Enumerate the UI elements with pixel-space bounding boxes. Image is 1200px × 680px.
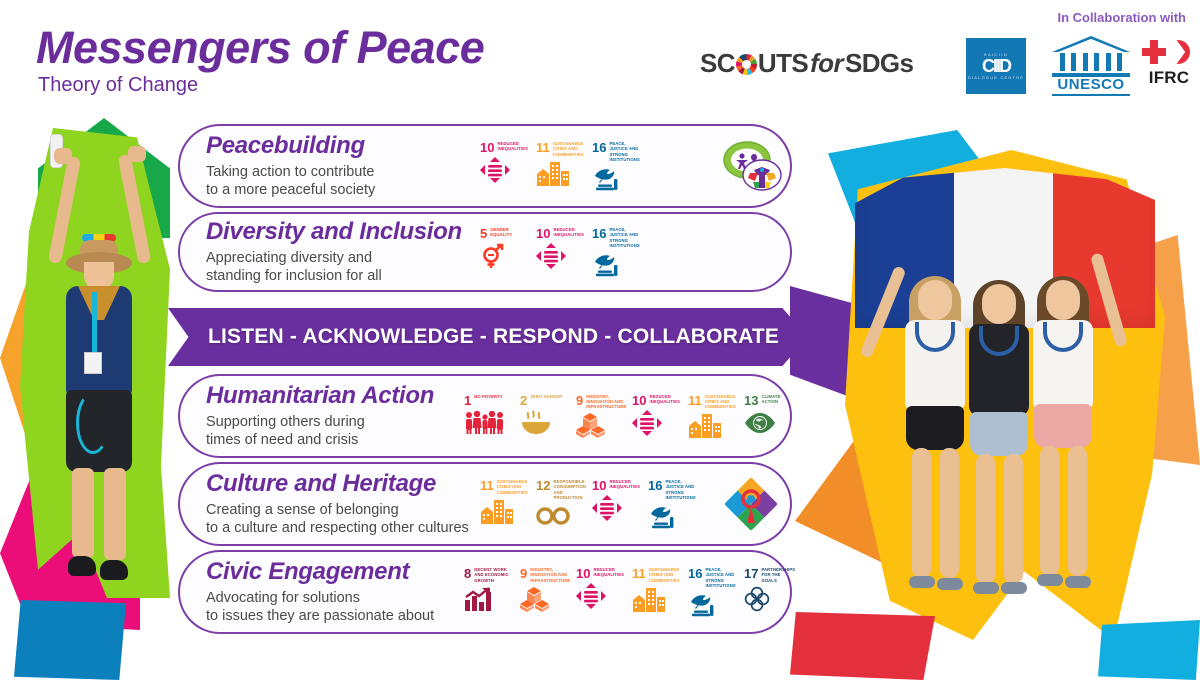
sdg-name: PARTNERSHIPS FOR THE GOALS [761, 567, 795, 583]
sdg-pictogram [536, 243, 582, 269]
sdg-name: REDUCED INEQUALITIES [649, 394, 680, 405]
dialogue-for-peace-badge-icon [722, 137, 784, 195]
sdg-goal-16-icon[interactable]: 16 PEACE, JUSTICE AND STRONG INSTITUTION… [648, 479, 694, 529]
leg-3b [1068, 446, 1087, 576]
sdg-number: 11 [632, 567, 646, 580]
sdg-pictogram [632, 586, 678, 612]
sdg-goal-11-icon[interactable]: 11 SUSTAINABLE CITIES AND COMMUNITIES [632, 567, 678, 612]
pillar-description-line2: to a more peaceful society [206, 181, 480, 199]
sdg-number: 16 [592, 227, 606, 240]
sdg-pictogram [464, 586, 510, 612]
pillar-description: Supporting others during times of need a… [206, 413, 464, 449]
sdg-number: 5 [480, 227, 487, 240]
name-badge [84, 352, 102, 374]
pillar-text-block: Culture and Heritage Creating a sense of… [180, 471, 480, 537]
head-3 [1046, 280, 1080, 320]
sdg-number: 8 [464, 567, 471, 580]
ifrc-wordmark: IFRC [1142, 68, 1196, 88]
pillar-title: Diversity and Inclusion [206, 219, 480, 245]
kaiciid-logo: KAICIID CIID DIALOGUE CENTRE [966, 38, 1026, 94]
pillar-card-culture-and-heritage[interactable]: Culture and Heritage Creating a sense of… [178, 462, 792, 546]
sdg-name: RESPONSIBLE CONSUMPTION AND PRODUCTION [553, 479, 586, 500]
sdg-number: 10 [576, 567, 590, 580]
sdg-name: CLIMATE ACTION [761, 394, 790, 405]
sdg-number: 13 [744, 394, 758, 407]
kaiciid-bottom-text: DIALOGUE CENTRE [968, 75, 1024, 81]
sdg-number: 1 [464, 394, 471, 407]
sandal-1b [937, 578, 963, 590]
scouts-logo-for: for [808, 48, 845, 79]
pillar-card-peacebuilding[interactable]: Peacebuilding Taking action to contribut… [178, 124, 792, 208]
pillar-title: Culture and Heritage [206, 471, 480, 497]
process-arrow-banner: LISTEN - ACKNOWLEDGE - RESPOND - COLLABO… [168, 308, 808, 366]
ifrc-emblems [1142, 38, 1196, 68]
sdg-name: SUSTAINABLE CITIES AND COMMUNITIES [497, 479, 528, 495]
arm-right [118, 154, 152, 264]
pillar-description: Advocating for solutions to issues they … [206, 589, 464, 625]
sdg-pictogram [744, 410, 790, 436]
sdg-pictogram [744, 586, 790, 612]
pillar-title: Peacebuilding [206, 133, 480, 159]
unesco-columns-icon [1060, 53, 1122, 71]
leg-2b [1004, 454, 1023, 584]
pillar-description-line1: Creating a sense of belonging [206, 501, 480, 519]
shorts-3 [1034, 404, 1092, 448]
pillar-description-line2: to issues they are passionate about [206, 607, 464, 625]
sdg-name: NO POVERTY [474, 394, 502, 399]
sdg-icon-row: 8 DECENT WORK AND ECONOMIC GROWTH 9 INDU… [464, 567, 790, 617]
ifrc-logo: IFRC [1142, 38, 1196, 94]
sdg-number: 11 [688, 394, 702, 407]
pillar-text-block: Peacebuilding Taking action to contribut… [180, 133, 480, 199]
sdg-pictogram [648, 503, 694, 529]
sdg-pictogram [520, 410, 566, 436]
sdg-pictogram [592, 495, 638, 521]
sdg-goal-16-icon[interactable]: 16 PEACE, JUSTICE AND STRONG INSTITUTION… [592, 141, 638, 191]
sdg-pictogram [536, 160, 582, 186]
sandal-1a [909, 576, 935, 588]
sdg-goal-5-icon[interactable]: 5 GENDER EQUALITY [480, 227, 526, 269]
scouts-with-french-flag-photo [855, 168, 1155, 608]
sdg-name: SUSTAINABLE CITIES AND COMMUNITIES [705, 394, 736, 410]
pillar-card-diversity-and-inclusion[interactable]: Diversity and Inclusion Appreciating div… [178, 212, 792, 292]
pillar-text-block: Civic Engagement Advocating for solution… [180, 559, 464, 625]
sdg-icon-row: 5 GENDER EQUALITY 10 REDUCED INEQUALITIE… [480, 227, 790, 277]
process-arrow-text: LISTEN - ACKNOWLEDGE - RESPOND - COLLABO… [168, 325, 779, 349]
sdg-pictogram [688, 591, 734, 617]
sdg-name: PEACE, JUSTICE AND STRONG INSTITUTIONS [665, 479, 695, 500]
pillar-text-block: Diversity and Inclusion Appreciating div… [180, 219, 480, 285]
sdg-name: GENDER EQUALITY [490, 227, 526, 238]
leg-2a [976, 454, 995, 584]
sandal-3b [1065, 576, 1091, 588]
sdg-goal-9-icon[interactable]: 9 INDUSTRY, INNOVATION AND INFRASTRUCTUR… [520, 567, 566, 612]
sdg-goal-13-icon[interactable]: 13 CLIMATE ACTION [744, 394, 790, 436]
sandal-2a [973, 582, 999, 594]
sdg-pictogram [480, 157, 526, 183]
sdg-number: 9 [520, 567, 527, 580]
sdg-name: SUSTAINABLE CITIES AND COMMUNITIES [649, 567, 680, 583]
sdg-number: 16 [688, 567, 702, 580]
sdg-goal-12-icon[interactable]: 12 RESPONSIBLE CONSUMPTION AND PRODUCTIO… [536, 479, 582, 529]
red-cross-icon [1142, 40, 1166, 64]
page-title: Messengers of Peace [36, 22, 484, 74]
sdg-name: REDUCED INEQUALITIES [553, 227, 584, 238]
sdg-name: PEACE, JUSTICE AND STRONG INSTITUTIONS [609, 227, 639, 248]
sdg-pictogram [480, 498, 526, 524]
scout-boy-cheering-photo [36, 140, 164, 610]
sdg-number: 16 [648, 479, 662, 492]
sdg-goal-10-icon[interactable]: 10 REDUCED INEQUALITIES [536, 227, 582, 269]
pillar-description: Creating a sense of belonging to a cultu… [206, 501, 480, 537]
sdg-number: 10 [632, 394, 646, 407]
sdg-icon-row: 10 REDUCED INEQUALITIES 11 SUSTAINABLE C… [480, 141, 722, 191]
sdg-goal-2-icon[interactable]: 2 ZERO HUNGER [520, 394, 566, 436]
unesco-logo: UNESCO [1052, 36, 1130, 94]
sdg-number: 2 [520, 394, 527, 407]
pillar-description-line2: standing for inclusion for all [206, 267, 480, 285]
shorts-2 [970, 412, 1028, 456]
sdg-pictogram [688, 412, 734, 438]
world-heritage-diamond-badge-icon [722, 475, 780, 533]
sdg-name: PEACE, JUSTICE AND STRONG INSTITUTIONS [705, 567, 735, 588]
world-heritage-diamond-badge [722, 475, 784, 533]
sdg-goal-10-icon[interactable]: 10 REDUCED INEQUALITIES [576, 567, 622, 609]
sdg-goal-10-icon[interactable]: 10 REDUCED INEQUALITIES [592, 479, 638, 521]
decor-cyan-shard-right-bottom [1098, 620, 1200, 680]
headphone-cord [76, 392, 110, 454]
sdg-name: REDUCED INEQUALITIES [609, 479, 640, 490]
sdg-number: 11 [536, 141, 550, 154]
sdg-name: DECENT WORK AND ECONOMIC GROWTH [474, 567, 510, 583]
shoe-right [100, 560, 128, 580]
sdg-pictogram [520, 586, 566, 612]
sdg-name: INDUSTRY, INNOVATION AND INFRASTRUCTURE [586, 394, 626, 410]
leg-left [72, 468, 94, 558]
pillar-text-block: Humanitarian Action Supporting others du… [180, 383, 464, 449]
pillar-description-line1: Supporting others during [206, 413, 464, 431]
sdg-name: SUSTAINABLE CITIES AND COMMUNITIES [553, 141, 584, 157]
lanyard [92, 292, 97, 356]
infographic-canvas: Messengers of Peace Theory of Change SC … [0, 0, 1200, 680]
sdg-color-wheel-icon [736, 54, 757, 75]
sdg-name: ZERO HUNGER [530, 394, 562, 399]
shoe-left [68, 556, 96, 576]
sdg-pictogram [464, 410, 510, 436]
sdg-icon-row: 11 SUSTAINABLE CITIES AND COMMUNITIES [480, 479, 722, 529]
sandal-3a [1037, 574, 1063, 586]
shorts-1 [906, 406, 964, 450]
unesco-roof-icon [1052, 36, 1130, 52]
scouts-logo-part2: UTS [758, 48, 808, 79]
sdg-number: 10 [592, 479, 606, 492]
dialogue-for-peace-badge [722, 137, 784, 195]
pillar-description: Taking action to contribute to a more pe… [206, 163, 480, 199]
leg-right [104, 468, 126, 560]
pillar-description-line1: Appreciating diversity and [206, 249, 480, 267]
sdg-number: 16 [592, 141, 606, 154]
scouts-for-sdgs-logo: SC UTS for SDGs [700, 48, 913, 79]
sdg-goal-17-icon[interactable]: 17 PARTNERSHIPS FOR THE GOALS [744, 567, 790, 612]
pillar-description-line1: Advocating for solutions [206, 589, 464, 607]
sdg-goal-1-icon[interactable]: 1 NO POVERTY [464, 394, 510, 436]
sdg-name: REDUCED INEQUALITIES [497, 141, 528, 152]
leg-3a [1040, 446, 1059, 576]
pillar-description: Appreciating diversity and standing for … [206, 249, 480, 285]
sdg-goal-10-icon[interactable]: 10 REDUCED INEQUALITIES [632, 394, 678, 436]
sdg-pictogram [632, 410, 678, 436]
pillar-description-line1: Taking action to contribute [206, 163, 480, 181]
sdg-goal-16-icon[interactable]: 16 PEACE, JUSTICE AND STRONG INSTITUTION… [592, 227, 638, 277]
sdg-goal-16-icon[interactable]: 16 PEACE, JUSTICE AND STRONG INSTITUTION… [688, 567, 734, 617]
sdg-pictogram [536, 503, 582, 529]
sdg-goal-9-icon[interactable]: 9 INDUSTRY, INNOVATION AND INFRASTRUCTUR… [576, 394, 622, 439]
sdg-number: 11 [480, 479, 494, 492]
sdg-pictogram [592, 165, 638, 191]
sdg-number: 10 [480, 141, 494, 154]
sdg-goal-11-icon[interactable]: 11 SUSTAINABLE CITIES AND COMMUNITIES [480, 479, 526, 524]
sdg-number: 17 [744, 567, 758, 580]
leg-1b [940, 448, 959, 578]
head-1 [918, 280, 952, 320]
sdg-number: 12 [536, 479, 550, 492]
sdg-pictogram [576, 412, 622, 438]
sdg-goal-11-icon[interactable]: 11 SUSTAINABLE CITIES AND COMMUNITIES [688, 394, 734, 439]
pillar-title: Civic Engagement [206, 559, 464, 585]
sdg-number: 9 [576, 394, 583, 407]
sdg-pictogram [576, 583, 622, 609]
sdg-name: PEACE, JUSTICE AND STRONG INSTITUTIONS [609, 141, 639, 162]
scouts-logo-part3: SDGs [845, 48, 913, 79]
head-2 [982, 284, 1016, 324]
sdg-goal-8-icon[interactable]: 8 DECENT WORK AND ECONOMIC GROWTH [464, 567, 510, 612]
unesco-base-line [1052, 94, 1130, 96]
page-subtitle: Theory of Change [38, 74, 198, 97]
pillar-title: Humanitarian Action [206, 383, 464, 409]
pillar-card-humanitarian-action[interactable]: Humanitarian Action Supporting others du… [178, 374, 792, 458]
sdg-name: REDUCED INEQUALITIES [593, 567, 624, 578]
collaboration-label: In Collaboration with [1057, 10, 1186, 25]
sandal-2b [1001, 582, 1027, 594]
decor-blue-shard-left [14, 600, 126, 680]
leg-1a [912, 448, 931, 578]
pillar-description-line2: times of need and crisis [206, 431, 464, 449]
sdg-pictogram [592, 251, 638, 277]
unesco-wordmark: UNESCO [1052, 77, 1130, 92]
arm-left [48, 156, 81, 264]
sdg-number: 10 [536, 227, 550, 240]
sdg-name: INDUSTRY, INNOVATION AND INFRASTRUCTURE [530, 567, 570, 583]
kaiciid-mark: CIID [982, 57, 1010, 75]
sdg-goal-11-icon[interactable]: 11 SUSTAINABLE CITIES AND COMMUNITIES [536, 141, 582, 186]
pillar-card-civic-engagement[interactable]: Civic Engagement Advocating for solution… [178, 550, 792, 634]
sdg-goal-10-icon[interactable]: 10 REDUCED INEQUALITIES [480, 141, 526, 183]
decor-red-shard-right-bottom [790, 612, 935, 680]
pillar-description-line2: to a culture and respecting other cultur… [206, 519, 480, 537]
red-crescent-icon [1166, 40, 1190, 64]
scouts-logo-part1: SC [700, 48, 735, 79]
sdg-pictogram [480, 243, 526, 269]
sdg-icon-row: 1 NO POVERTY 2 ZERO HUNGER [464, 394, 790, 439]
